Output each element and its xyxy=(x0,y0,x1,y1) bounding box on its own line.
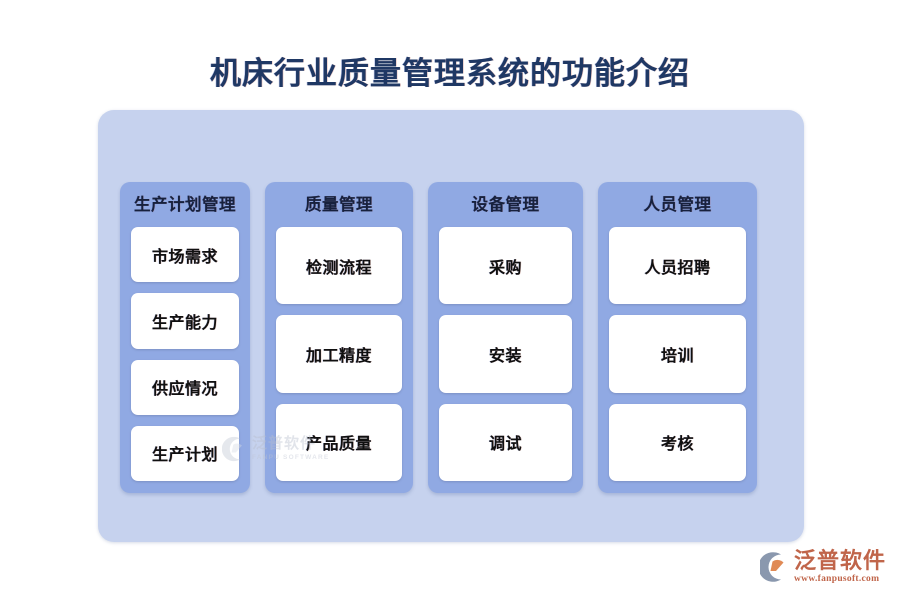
diagram-column-quality-management[interactable]: 质量管理 检测流程 加工精度 产品质量 xyxy=(265,182,413,493)
fanpu-swoosh-icon xyxy=(760,552,790,582)
column-items: 采购 安装 调试 xyxy=(439,227,572,481)
column-items: 检测流程 加工精度 产品质量 xyxy=(276,227,402,481)
column-items: 市场需求 生产能力 供应情况 生产计划 xyxy=(131,227,239,481)
item-box[interactable]: 生产能力 xyxy=(131,293,239,348)
column-header: 人员管理 xyxy=(609,182,746,227)
item-box[interactable]: 检测流程 xyxy=(276,227,402,304)
slide-canvas: 机床行业质量管理系统的功能介绍 生产计划管理 市场需求 生产能力 供应情况 生产… xyxy=(0,0,900,600)
column-items: 人员招聘 培训 考核 xyxy=(609,227,746,481)
item-box[interactable]: 考核 xyxy=(609,404,746,481)
page-title: 机床行业质量管理系统的功能介绍 xyxy=(0,48,900,93)
diagram-column-personnel-management[interactable]: 人员管理 人员招聘 培训 考核 xyxy=(598,182,757,493)
brand-url: www.fanpusoft.com xyxy=(794,575,886,585)
item-box[interactable]: 培训 xyxy=(609,315,746,392)
item-box[interactable]: 采购 xyxy=(439,227,572,304)
item-box[interactable]: 生产计划 xyxy=(131,426,239,481)
item-box[interactable]: 调试 xyxy=(439,404,572,481)
item-box[interactable]: 供应情况 xyxy=(131,360,239,415)
diagram-columns: 生产计划管理 市场需求 生产能力 供应情况 生产计划 质量管理 检测流程 加工精… xyxy=(120,182,752,493)
column-header: 设备管理 xyxy=(439,182,572,227)
item-box[interactable]: 市场需求 xyxy=(131,227,239,282)
diagram-column-equipment-management[interactable]: 设备管理 采购 安装 调试 xyxy=(428,182,583,493)
brand-logo[interactable]: 泛普软件 www.fanpusoft.com xyxy=(760,544,892,590)
brand-logo-text: 泛普软件 www.fanpusoft.com xyxy=(794,550,886,585)
brand-name-cn: 泛普软件 xyxy=(794,550,886,572)
item-box[interactable]: 产品质量 xyxy=(276,404,402,481)
item-box[interactable]: 加工精度 xyxy=(276,315,402,392)
diagram-column-production-planning[interactable]: 生产计划管理 市场需求 生产能力 供应情况 生产计划 xyxy=(120,182,250,493)
item-box[interactable]: 人员招聘 xyxy=(609,227,746,304)
column-header: 质量管理 xyxy=(276,182,402,227)
column-header: 生产计划管理 xyxy=(131,182,239,227)
item-box[interactable]: 安装 xyxy=(439,315,572,392)
